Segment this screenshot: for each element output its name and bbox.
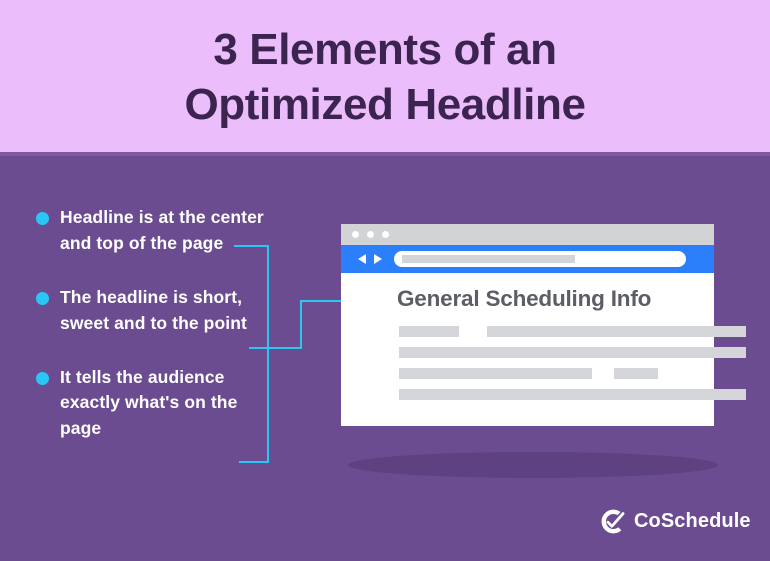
triangle-left-icon[interactable]: [358, 254, 366, 264]
url-text-placeholder: [402, 255, 575, 263]
content-placeholder-bar: [614, 368, 658, 379]
infographic-canvas: 3 Elements of an Optimized Headline Head…: [0, 0, 770, 561]
coschedule-logo: CoSchedule: [601, 509, 751, 534]
list-item: It tells the audience exactly what's on …: [33, 365, 283, 443]
connector-stub-middle: [249, 347, 269, 349]
list-item: Headline is at the center and top of the…: [33, 205, 283, 257]
window-dot-icon: [367, 231, 374, 238]
bullet-text: It tells the audience exactly what's on …: [60, 367, 237, 439]
coschedule-check-circle-icon: [601, 509, 626, 534]
window-dot-icon: [352, 231, 359, 238]
ground-shadow: [348, 452, 718, 478]
content-placeholder-bar: [399, 389, 746, 400]
page-title: 3 Elements of an Optimized Headline: [0, 22, 770, 133]
header-divider: [0, 152, 770, 156]
bullet-text: The headline is short, sweet and to the …: [60, 287, 247, 333]
browser-window-mockup: General Scheduling Info: [341, 224, 714, 426]
bullet-dot-icon: [36, 372, 49, 385]
connector-vertical-main: [267, 245, 269, 463]
page-heading: General Scheduling Info: [397, 286, 651, 312]
connector-stub-bottom: [239, 461, 269, 463]
connector-bridge-horizontal: [267, 347, 302, 349]
connector-stub-top: [234, 245, 269, 247]
content-placeholder-bar: [399, 326, 459, 337]
connector-bridge-vertical: [300, 300, 302, 349]
browser-urlbar: [341, 245, 714, 273]
bullet-dot-icon: [36, 292, 49, 305]
window-dot-icon: [382, 231, 389, 238]
triangle-right-icon[interactable]: [374, 254, 382, 264]
content-placeholder-bar: [399, 368, 592, 379]
bullet-dot-icon: [36, 212, 49, 225]
browser-titlebar: [341, 224, 714, 245]
logo-text: CoSchedule: [634, 510, 751, 533]
list-item: The headline is short, sweet and to the …: [33, 285, 283, 337]
content-placeholder-bar: [399, 347, 746, 358]
content-placeholder-bar: [487, 326, 746, 337]
